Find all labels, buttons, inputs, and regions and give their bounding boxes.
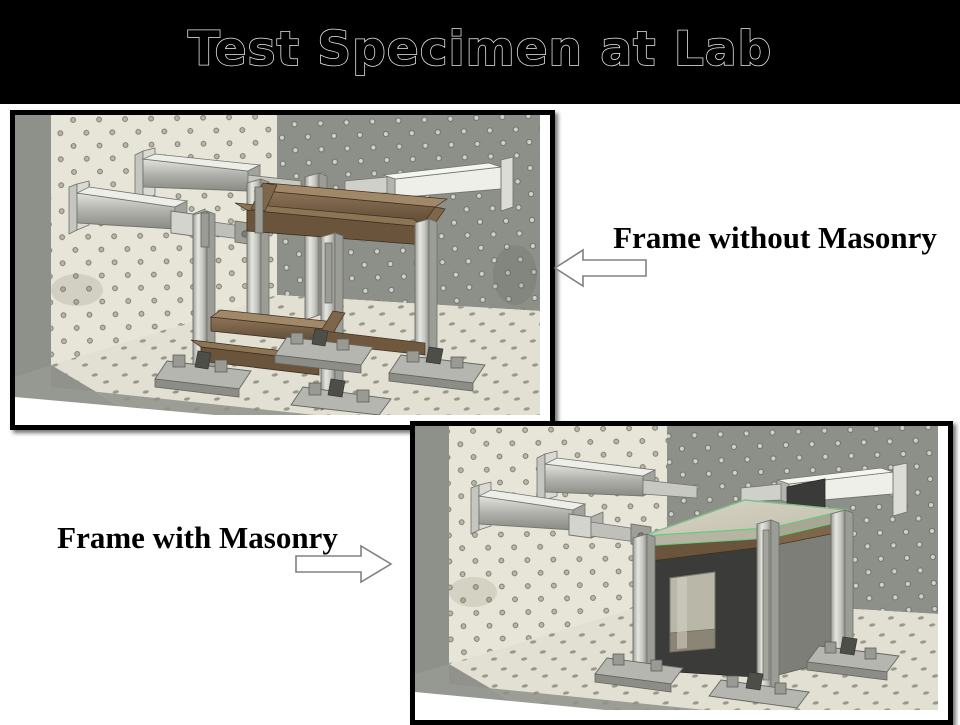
frame-with-masonry-illustration — [415, 426, 938, 710]
panel-frame-without-masonry[interactable] — [10, 110, 555, 430]
title-bar: Test Specimen at Lab — [0, 0, 960, 104]
cad-render-frame-with-masonry — [415, 426, 948, 720]
frame-without-masonry-illustration — [15, 115, 540, 415]
arrow-left-outline-icon — [553, 246, 648, 290]
arrow-right-shape — [293, 542, 393, 586]
arrow-right-outline-icon — [293, 542, 393, 586]
cad-render-frame-without-masonry — [15, 115, 550, 425]
panel-frame-with-masonry[interactable] — [410, 421, 953, 725]
arrow-left-shape — [553, 246, 648, 290]
page-title: Test Specimen at Lab — [0, 20, 960, 80]
caption-frame-without-masonry: Frame without Masonry — [610, 220, 940, 255]
